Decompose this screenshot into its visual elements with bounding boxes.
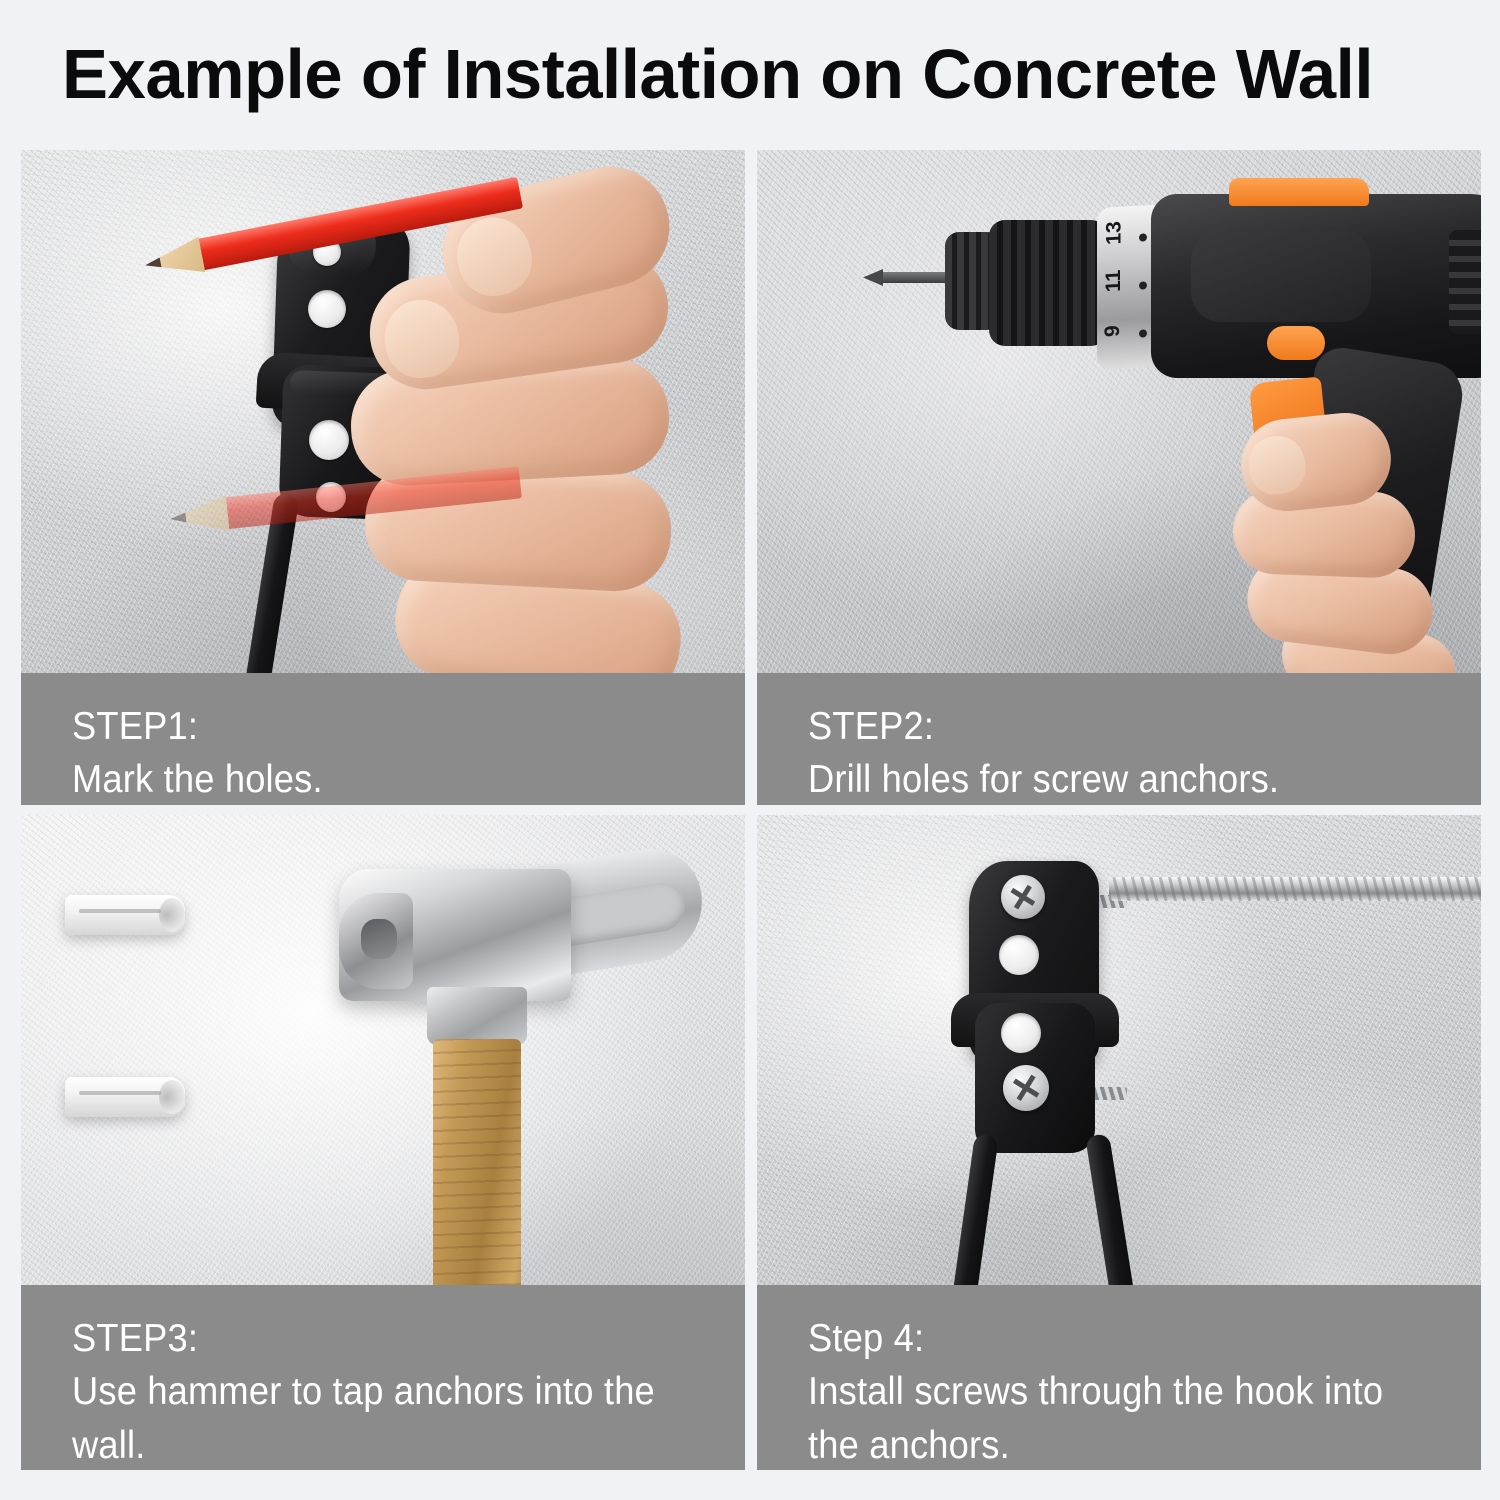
drill-direction-switch (1267, 326, 1325, 360)
screw-head (1003, 1065, 1049, 1111)
step-1-caption: STEP1: Mark the holes. (21, 673, 745, 805)
step-4-text: Install screws through the hook into the… (808, 1365, 1422, 1470)
step-2-text: Drill holes for screw anchors. (808, 753, 1422, 805)
fingernail (380, 295, 464, 383)
step-panel-3: STEP3: Use hammer to tap anchors into th… (21, 815, 745, 1470)
hammer-head (339, 869, 571, 1001)
clutch-dot (1139, 233, 1147, 241)
installation-steps-grid: STEP1: Mark the holes. 13 11 9 (21, 150, 1481, 1470)
screw-head (1001, 875, 1045, 919)
step-1-label: STEP1: (72, 701, 698, 753)
step-2-label: STEP2: (808, 701, 1434, 753)
hand-illustration (291, 172, 745, 732)
step-panel-4: Step 4: Install screws through the hook … (757, 815, 1481, 1470)
drill-chuck (989, 220, 1107, 346)
page-title: Example of Installation on Concrete Wall (62, 28, 1441, 120)
step-3-text: Use hammer to tap anchors into the wall. (72, 1365, 686, 1470)
clutch-number: 9 (1101, 325, 1125, 338)
clutch-number: 11 (1102, 269, 1126, 292)
mounting-hole-icon (999, 935, 1039, 975)
step-4-label: Step 4: (808, 1313, 1434, 1365)
clutch-dot (1139, 281, 1147, 289)
wall-anchor (65, 1077, 185, 1117)
screwdriver-shaft (1109, 877, 1481, 901)
hammer-neck (427, 987, 527, 1045)
cordless-drill-illustration: 13 11 9 (901, 176, 1481, 696)
clutch-number: 13 (1103, 221, 1127, 246)
step-panel-2: 13 11 9 STEP (757, 150, 1481, 805)
step-panel-1: STEP1: Mark the holes. (21, 150, 745, 805)
clutch-dot (1139, 329, 1147, 337)
wall-anchor (65, 895, 185, 935)
mounting-hole-icon (1001, 1013, 1041, 1053)
drill-top-accent (1229, 178, 1369, 206)
fingernail (1246, 433, 1308, 497)
screwdriver-illustration (1109, 843, 1481, 973)
drill-vent (1449, 230, 1481, 334)
hand-illustration (1231, 412, 1481, 702)
step-3-caption: STEP3: Use hammer to tap anchors into th… (21, 1285, 745, 1470)
hammer-face (339, 893, 413, 989)
step-2-caption: STEP2: Drill holes for screw anchors. (757, 673, 1481, 805)
thumbnail (449, 210, 540, 304)
step-4-caption: Step 4: Install screws through the hook … (757, 1285, 1481, 1470)
step-3-label: STEP3: (72, 1313, 698, 1365)
step-1-text: Mark the holes. (72, 753, 686, 805)
